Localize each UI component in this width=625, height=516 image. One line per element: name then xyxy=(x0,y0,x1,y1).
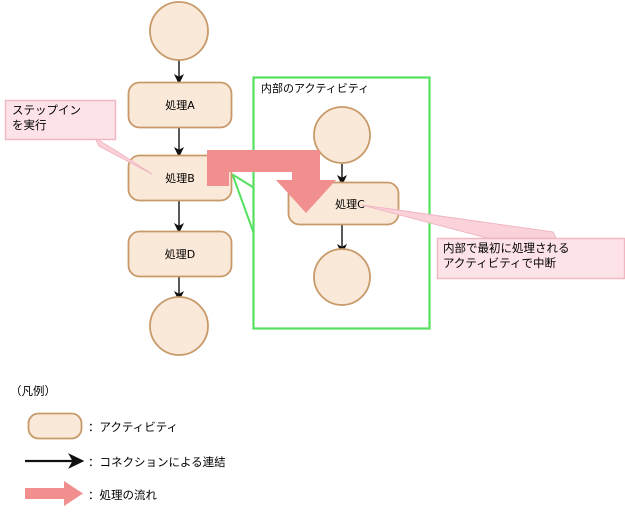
activity-node-d xyxy=(129,232,232,277)
legend-item-activity-separator: ： xyxy=(88,420,100,434)
legend-flow-arrow-icon xyxy=(25,481,83,506)
legend-item-connector-text: コネクションによる連結 xyxy=(100,455,226,469)
activity-node-a xyxy=(129,83,232,128)
legend-item-flow-separator: ： xyxy=(88,488,100,502)
legend-item-activity-label: ：アクティビティ xyxy=(88,419,178,435)
legend-title: （凡例） xyxy=(10,383,56,399)
legend-item-connector-label: ：コネクションによる連結 xyxy=(88,454,226,470)
group-pointer-line-lower xyxy=(233,175,254,233)
legend-item-connector-separator: ： xyxy=(88,455,100,469)
start-node-inner xyxy=(314,107,370,163)
end-node-outer xyxy=(150,297,208,355)
end-node-inner xyxy=(314,249,370,305)
callout-step-in-text: ステップイン を実行 xyxy=(12,103,117,133)
legend-item-flow-text: 処理の流れ xyxy=(100,488,158,502)
inner-activity-group-label: 内部のアクティビティ xyxy=(261,82,369,96)
callout-break-text: 内部で最初に処理される アクティビティで中断 xyxy=(443,241,623,271)
legend-item-activity-text: アクティビティ xyxy=(100,420,179,434)
start-node-outer xyxy=(150,2,208,60)
legend-activity-swatch-icon xyxy=(29,414,82,439)
legend-item-flow-label: ：処理の流れ xyxy=(88,487,157,503)
